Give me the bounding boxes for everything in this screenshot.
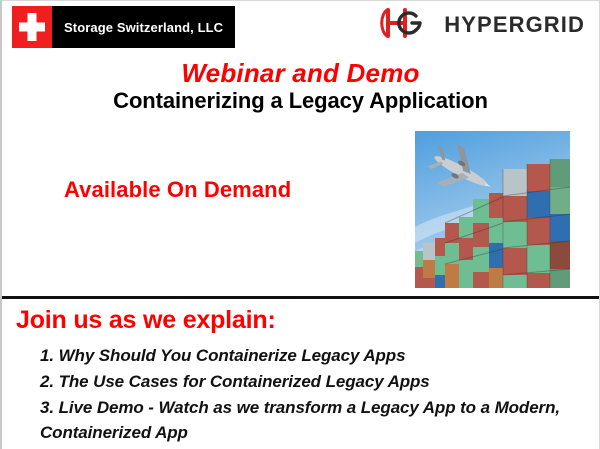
agenda-list: 1. Why Should You Containerize Legacy Ap… — [40, 343, 579, 446]
webinar-eyebrow: Webinar and Demo — [2, 58, 599, 89]
shipping-containers-with-airplane-photo — [415, 131, 570, 288]
list-item: 1. Why Should You Containerize Legacy Ap… — [40, 343, 579, 369]
section-divider — [2, 296, 599, 299]
swiss-cross-horizontal — [19, 23, 45, 32]
storage-switzerland-logo: Storage Switzerland, LLC — [12, 6, 235, 48]
hypergrid-hg-monogram-icon — [375, 6, 435, 45]
availability-badge: Available On Demand — [64, 177, 291, 203]
storage-switzerland-wordmark: Storage Switzerland, LLC — [52, 6, 235, 48]
hypergrid-logo: HYPERGRID — [375, 7, 585, 43]
page-title: Containerizing a Legacy Application — [2, 88, 599, 114]
agenda-heading: Join us as we explain: — [16, 306, 276, 335]
list-item: 2. The Use Cases for Containerized Legac… — [40, 369, 579, 395]
list-item: 3. Live Demo - Watch as we transform a L… — [40, 395, 579, 447]
webinar-promo-slide: Storage Switzerland, LLC HYPERGRID Webin… — [0, 0, 600, 449]
hypergrid-wordmark: HYPERGRID — [444, 14, 585, 36]
swiss-flag-icon — [12, 6, 52, 48]
